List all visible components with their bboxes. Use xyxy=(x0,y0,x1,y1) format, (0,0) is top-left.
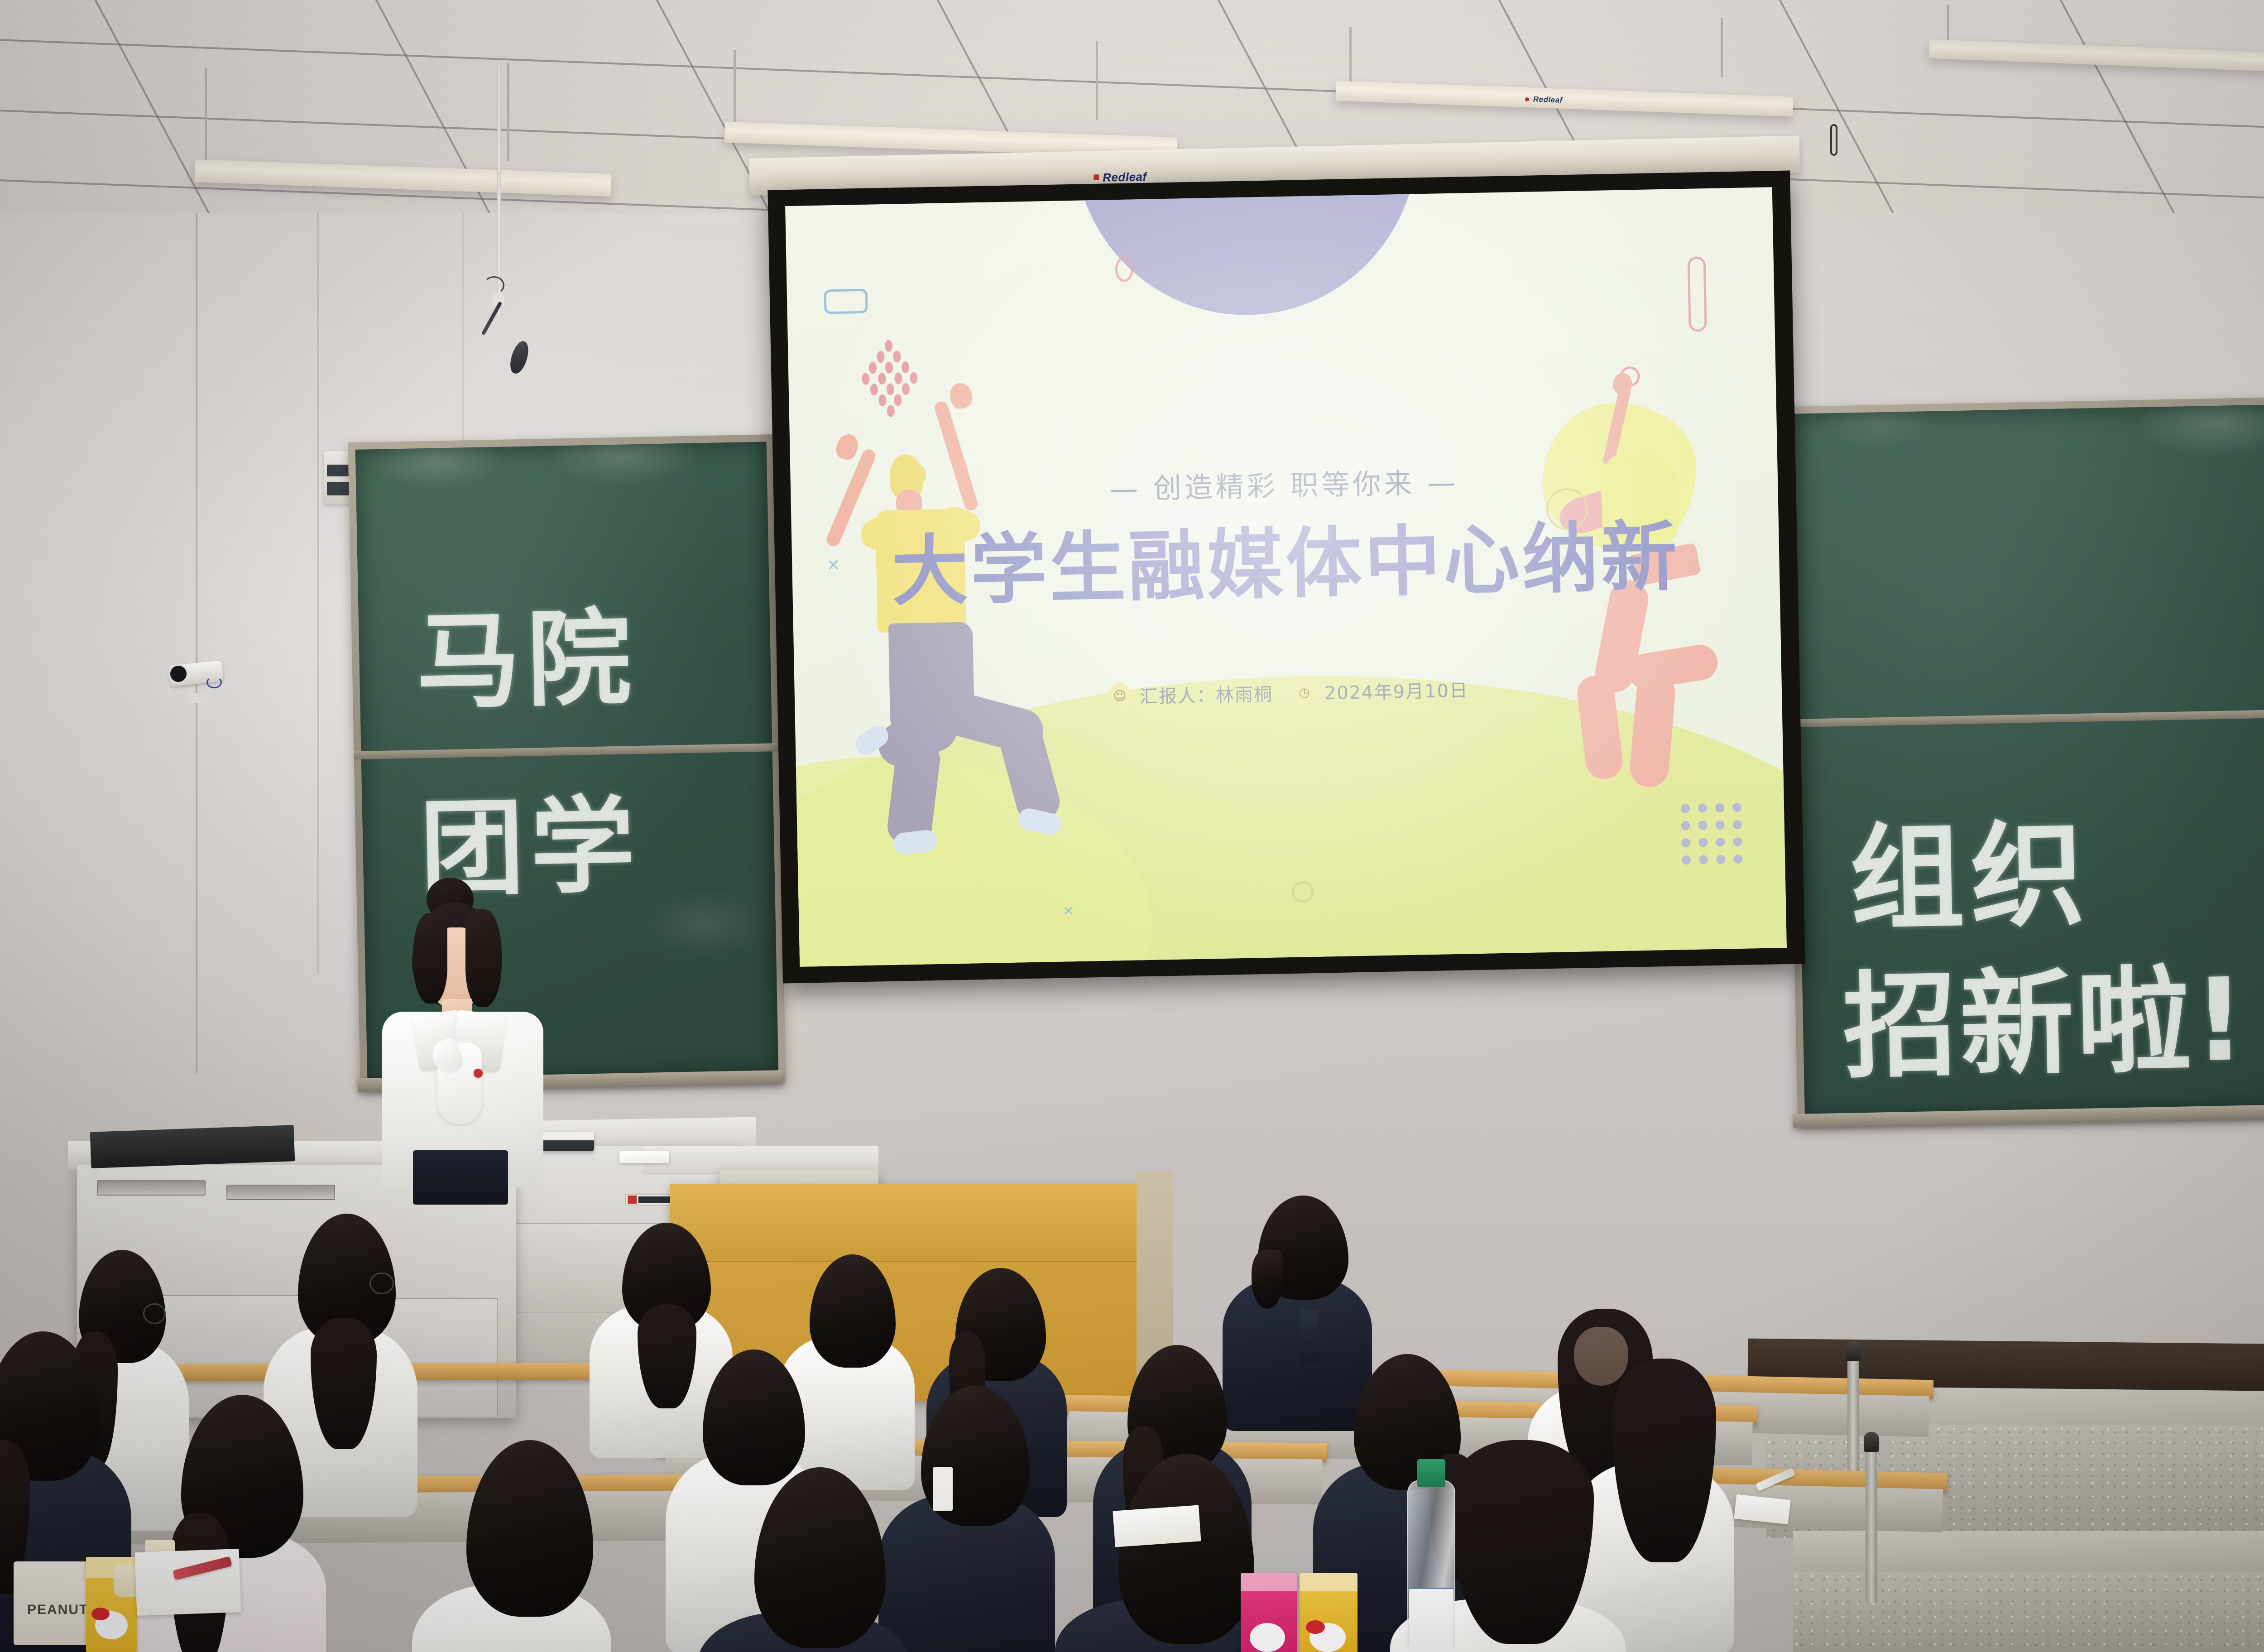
presenter xyxy=(358,874,566,1182)
light-stem xyxy=(205,68,207,172)
illustration-jumping-student xyxy=(815,363,1116,921)
microphone-cable xyxy=(484,276,504,294)
person-icon: ☺ xyxy=(1108,683,1132,708)
decor-pill xyxy=(1688,256,1707,332)
slide-presenter: ☺ 汇报人：林雨桐 xyxy=(1108,680,1273,709)
hair-clip xyxy=(933,1467,953,1511)
water-bottle xyxy=(1407,1480,1455,1652)
presentation-slide: × × xyxy=(785,187,1787,967)
party-emblem-pin xyxy=(474,1069,483,1078)
classroom-photo-scene: Redleaf 马院 团学 组织 招新啦! xyxy=(0,0,2264,1652)
chalk-text-right-line2: 招新啦! xyxy=(1841,927,2250,1100)
chalk-text-right-line1: 组织 xyxy=(1848,782,2092,952)
light-brand-label: Redleaf xyxy=(1533,95,1563,105)
light-stem xyxy=(1096,41,1098,120)
projector-screen-brand: Redleaf xyxy=(1103,170,1147,185)
slide-title: 大学生融媒体中心纳新 xyxy=(791,513,1780,616)
clock-icon: ◷ xyxy=(1292,680,1317,705)
console-slot xyxy=(97,1180,206,1196)
screen-hook xyxy=(1830,124,1837,156)
glasses-icon xyxy=(369,1273,394,1294)
wall-seam xyxy=(317,213,319,974)
console-slot xyxy=(226,1185,335,1200)
camera-lens-icon xyxy=(168,664,188,684)
light-stem xyxy=(507,63,509,161)
slide-date: ◷ 2024年9月10日 xyxy=(1292,676,1468,705)
projection-screen: × × xyxy=(767,170,1805,983)
console-monitor-recess xyxy=(90,1125,295,1168)
milk-carton-kuromi xyxy=(1241,1573,1297,1652)
decor-circle xyxy=(1115,256,1133,282)
decor-purple-arc xyxy=(1070,187,1421,318)
chalk-text-left-line1: 马院 xyxy=(415,574,638,729)
bottle-cap xyxy=(1417,1459,1445,1487)
camera-mount xyxy=(187,693,207,703)
glasses-icon xyxy=(143,1303,166,1324)
slide-date-label: 2024年9月10日 xyxy=(1324,676,1468,705)
podium-paper xyxy=(619,1151,669,1163)
milk-carton-hellokitty xyxy=(1300,1573,1357,1652)
bench-leg-cap xyxy=(1846,1341,1861,1361)
light-stem xyxy=(1721,18,1723,77)
illustration-running-student xyxy=(1531,382,1766,839)
bench-leg-cap xyxy=(1864,1432,1879,1452)
bottle-label xyxy=(1409,1588,1453,1652)
chalkboard-right-surface: 组织 招新啦! xyxy=(1791,403,2264,1119)
floor-step xyxy=(1793,1572,2264,1652)
wall-seam xyxy=(196,213,197,1073)
chalkboard-right: 组织 招新啦! xyxy=(1784,396,2264,1127)
camera-cable xyxy=(206,677,222,688)
bench-leg xyxy=(1866,1449,1877,1603)
slide-presenter-label: 汇报人：林雨桐 xyxy=(1139,680,1273,709)
worksheet-paper xyxy=(1113,1505,1201,1547)
decor-rounded-rect xyxy=(824,289,868,314)
